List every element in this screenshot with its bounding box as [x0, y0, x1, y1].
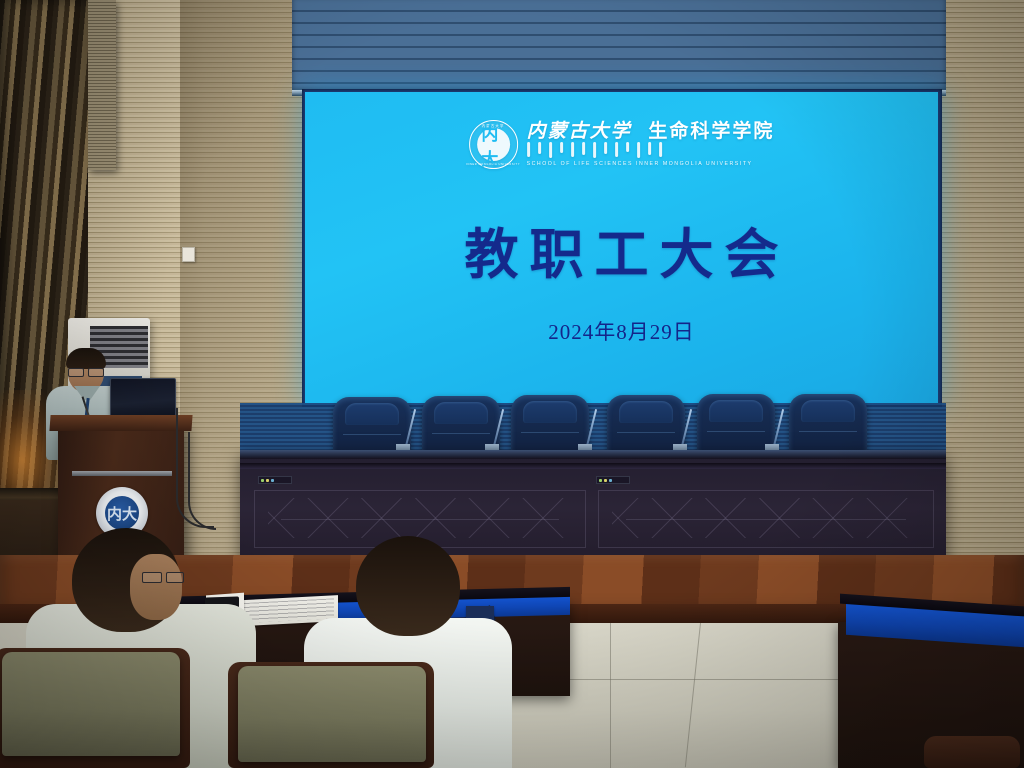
- presentation-slide: 内蒙古大学 内大 INNER MONGOLIA UNIVERSITY 内蒙古大学…: [305, 92, 938, 403]
- screen-header-slat-panel: [292, 0, 946, 92]
- audience-chair-cushion[interactable]: [2, 652, 180, 756]
- light-switch[interactable]: [182, 247, 195, 262]
- head-table-chair[interactable]: [697, 394, 775, 454]
- logo-school-cn: 生命科学学院: [648, 121, 774, 142]
- emblem-ring-bottom-text: INNER MONGOLIA UNIVERSITY: [466, 163, 520, 166]
- audience-chair[interactable]: [924, 736, 1020, 768]
- wall-acoustic-panel: [88, 0, 116, 170]
- head-table-diamond-motif: [612, 498, 918, 538]
- logo-english-name: SCHOOL OF LIFE SCIENCES INNER MONGOLIA U…: [527, 161, 775, 167]
- podium-top-surface: [49, 415, 192, 431]
- projection-screen[interactable]: 内蒙古大学 内大 INNER MONGOLIA UNIVERSITY 内蒙古大学…: [305, 92, 938, 403]
- head-table-diamond-motif: [268, 498, 568, 538]
- school-logo: 内蒙古大学 内大 INNER MONGOLIA UNIVERSITY 内蒙古大学…: [469, 120, 775, 169]
- emblem-mark-text: 内大: [481, 120, 505, 170]
- conference-hall-photo: 内蒙古大学 内大 INNER MONGOLIA UNIVERSITY 内蒙古大学…: [0, 0, 1024, 768]
- attendee-face: [130, 554, 182, 620]
- logo-mongolian-script: [527, 142, 775, 159]
- slide-title: 教职工大会: [305, 210, 938, 289]
- head-table-nameplate: [596, 476, 630, 484]
- logo-university-cn: 内蒙古大学: [527, 121, 632, 142]
- head-table-trim-rail: [240, 463, 946, 469]
- head-table-surface: [240, 450, 946, 459]
- university-emblem-icon: 内蒙古大学 内大 INNER MONGOLIA UNIVERSITY: [469, 120, 518, 169]
- logo-text-block: 内蒙古大学 生命科学学院: [527, 122, 775, 168]
- floor-cable: [188, 432, 216, 530]
- podium-emblem-core-text: 内大: [105, 496, 139, 530]
- logo-chinese-name: 内蒙古大学 生命科学学院: [527, 122, 775, 142]
- slide-date: 2024年8月29日: [305, 316, 938, 346]
- attendee-head: [356, 536, 460, 636]
- head-table-chair[interactable]: [789, 394, 867, 454]
- speaker-hair: [66, 348, 106, 369]
- audience-chair-cushion[interactable]: [238, 666, 426, 762]
- glasses-icon: [142, 572, 184, 579]
- podium-metal-band: [72, 471, 172, 476]
- head-table-nameplate: [258, 476, 292, 484]
- glasses-icon: [68, 368, 104, 375]
